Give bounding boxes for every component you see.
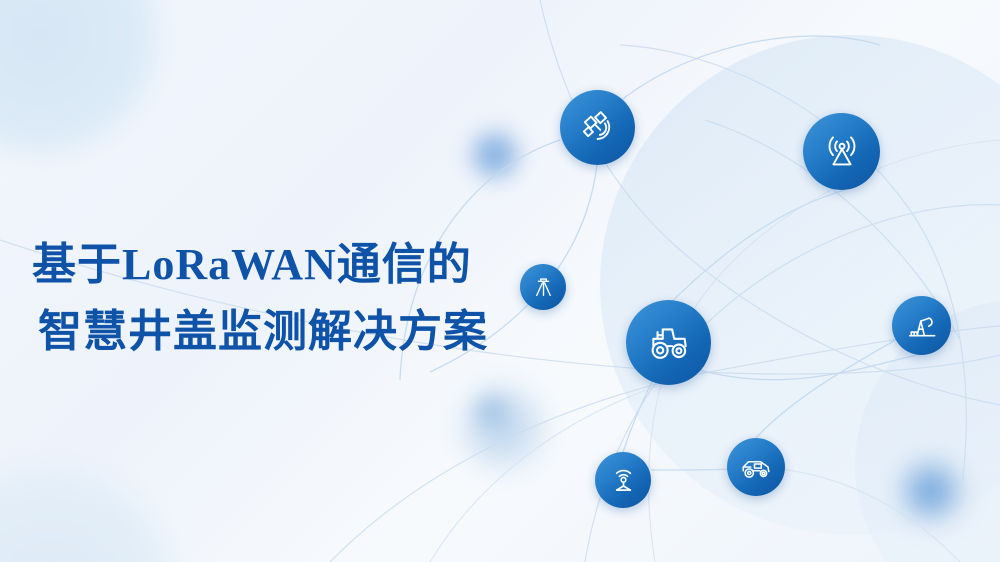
antenna-icon [803,113,880,190]
satellite-icon [560,90,635,165]
tractor-icon [626,300,711,385]
harvester-icon [727,438,785,496]
presentation-cover-slide: 基于LoRaWAN通信的 智慧井盖监测解决方案 [0,0,1000,562]
oil-pump-icon [892,296,951,355]
title-line-1: 基于LoRaWAN通信的 [32,232,572,299]
slide-title: 基于LoRaWAN通信的 智慧井盖监测解决方案 [32,232,572,366]
beacon-icon [595,452,651,508]
title-line-2: 智慧井盖监测解决方案 [32,299,572,366]
